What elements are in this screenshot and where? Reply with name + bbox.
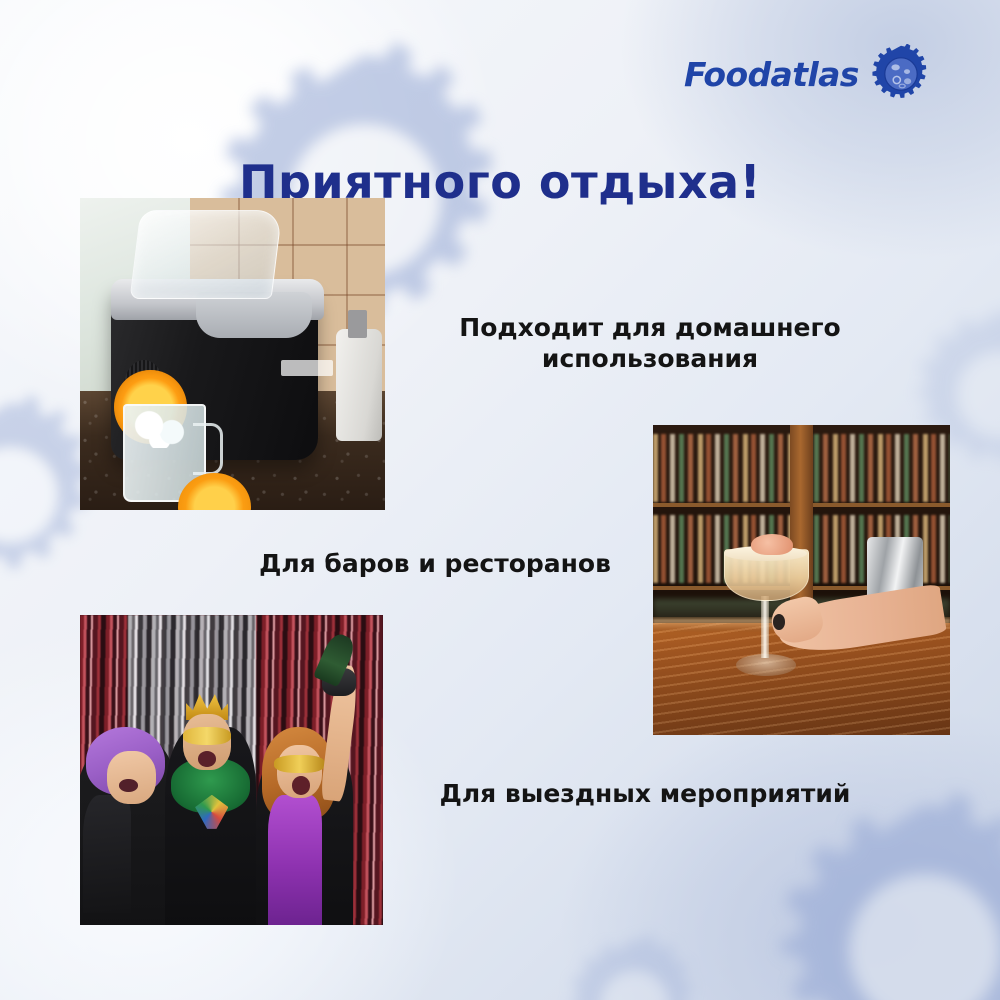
mouth-right bbox=[292, 776, 310, 795]
caption-outdoor-events: Для выездных мероприятий bbox=[330, 778, 960, 809]
caption-home-use-line2: использования bbox=[400, 343, 900, 374]
gear-watermark-bottom-center bbox=[560, 930, 710, 1000]
soap-dispenser bbox=[336, 329, 382, 441]
mouth-left bbox=[119, 779, 137, 791]
party-celebration-photo bbox=[80, 615, 383, 925]
cocktail-glass-stem bbox=[761, 596, 768, 658]
gear-globe-icon bbox=[871, 44, 931, 104]
gear-watermark-bottom-right bbox=[760, 785, 1000, 1000]
purple-feather-boa bbox=[268, 795, 323, 925]
ice-cubes bbox=[129, 410, 196, 447]
ice-maker-transparent-lid bbox=[129, 210, 282, 299]
face-left bbox=[107, 751, 155, 804]
bar-cocktail-photo bbox=[653, 425, 950, 735]
mason-jar-handle bbox=[193, 423, 223, 476]
caption-bars-restaurants: Для баров и ресторанов bbox=[150, 548, 720, 579]
black-feather-boa bbox=[83, 795, 131, 913]
background-wash-bottom-right bbox=[560, 700, 1000, 1000]
cocktail-garnish bbox=[751, 534, 793, 556]
soap-dispenser-pump bbox=[348, 310, 366, 338]
gold-glasses-mask-center bbox=[183, 727, 231, 746]
brand-logo[interactable]: Foodatlas bbox=[684, 44, 931, 104]
ice-maker-brand-badge bbox=[281, 360, 333, 376]
caption-home-use-line1: Подходит для домашнего bbox=[400, 312, 900, 343]
gold-mask-right bbox=[274, 755, 326, 774]
promo-slide: Foodatlas Приятного отдыха! bbox=[0, 0, 1000, 1000]
background-wash-top-right bbox=[620, 0, 1000, 260]
caption-home-use: Подходит для домашнего использования bbox=[400, 312, 900, 375]
ice-maker-kitchen-photo bbox=[80, 198, 385, 510]
fingernail bbox=[773, 614, 785, 630]
cocktail-glass-foot bbox=[736, 654, 795, 676]
brand-logo-text: Foodatlas bbox=[684, 58, 859, 91]
